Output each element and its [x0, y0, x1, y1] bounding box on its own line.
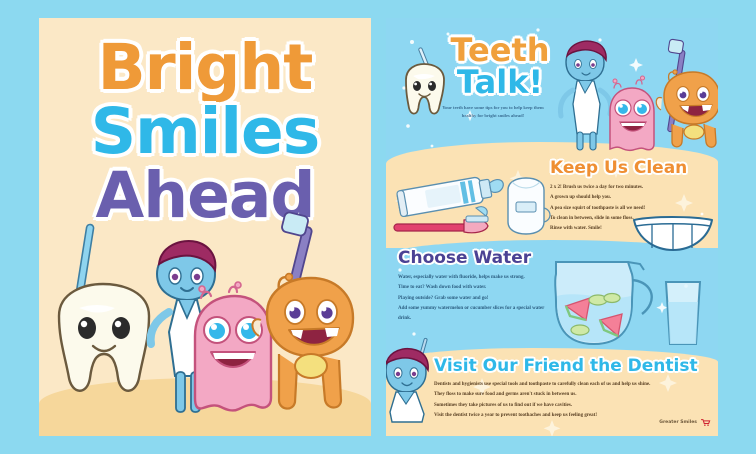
title-line-ahead: Ahead — [39, 166, 371, 226]
keep-us-clean-illustrations — [392, 168, 552, 246]
body-line: Add some yummy watermelon or cucumber sl… — [398, 304, 554, 325]
smiling-tooth-character — [59, 284, 149, 391]
poster-teeth-talk: Teeth Talk! Your teeth have some tips fo… — [386, 18, 718, 436]
title-teeth: Teeth — [430, 34, 570, 66]
logo-text: Greater Smiles — [659, 420, 697, 425]
section-body-choose-water: Water, especially water with fluoride, h… — [398, 273, 554, 324]
body-line: Sometimes they take pictures of us to fi… — [434, 401, 710, 411]
body-line: Dentists and hygienists use special tool… — [434, 380, 710, 390]
orange-monster-character — [656, 70, 718, 147]
poster-bright-smiles-ahead: Bright Smiles Ahead — [39, 18, 371, 436]
screenshot-canvas: Bright Smiles Ahead — [0, 0, 756, 454]
header-characters — [552, 40, 718, 150]
poster-left-characters — [39, 220, 371, 420]
water-glass-icon — [666, 282, 700, 344]
section-choose-water: Choose Water Water, especially water wit… — [398, 250, 554, 324]
water-pitcher-icon — [555, 262, 652, 344]
title-line-smiles: Smiles — [39, 102, 371, 162]
body-line: Time to eat? Wash down food with water. — [398, 283, 554, 293]
dentist-character-bottom — [386, 346, 446, 422]
teeth-talk-subtitle: Your teeth have some tips for you to hel… — [438, 104, 548, 120]
smiling-teeth-icon — [630, 214, 716, 252]
section-body-visit-dentist: Dentists and hygienists use special tool… — [434, 380, 710, 421]
body-line: 2 x 2! Brush us twice a day for two minu… — [550, 183, 714, 193]
title-line-bright: Bright — [39, 38, 371, 98]
pink-monster-character — [195, 282, 271, 410]
dental-floss-box-icon — [508, 178, 550, 234]
body-line: A pea size squirt of toothpaste is all w… — [550, 204, 714, 214]
body-line: Playing outside? Grab some water and go! — [398, 294, 554, 304]
title-talk: Talk! — [430, 66, 570, 100]
body-line: A grown up should help you. — [550, 193, 714, 203]
section-heading-choose-water: Choose Water — [398, 250, 554, 267]
body-line: They floss to make sure food and germs a… — [434, 390, 710, 400]
section-visit-dentist: Visit Our Friend the Dentist Dentists an… — [434, 358, 710, 421]
pink-monster-character — [610, 76, 654, 150]
section-heading-keep-us-clean: Keep Us Clean — [550, 160, 714, 177]
brand-logo: Greater Smiles — [659, 419, 710, 426]
red-shopping-cart-icon — [701, 419, 710, 426]
body-line: Water, especially water with fluoride, h… — [398, 273, 554, 283]
poster-left-title: Bright Smiles Ahead — [39, 38, 371, 226]
section-heading-visit-dentist: Visit Our Friend the Dentist — [434, 358, 710, 375]
choose-water-illustrations — [536, 258, 716, 354]
blue-dentist-character — [560, 41, 610, 150]
toothpaste-tube-icon — [397, 173, 506, 217]
teeth-talk-title: Teeth Talk! — [430, 34, 570, 100]
